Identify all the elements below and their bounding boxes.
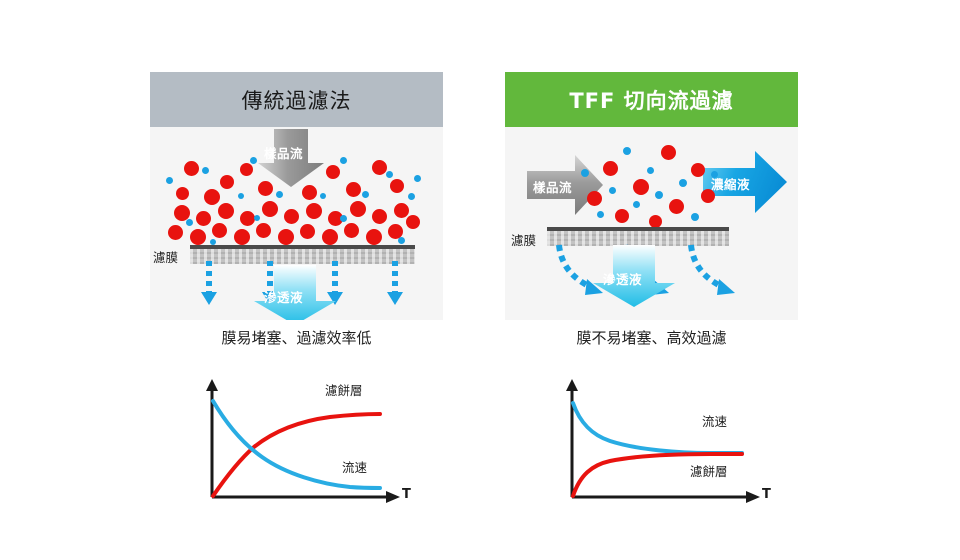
particle-red — [284, 209, 299, 224]
particle-red — [691, 163, 705, 177]
panel-tff: TFF 切向流過濾 樣品流 — [505, 72, 798, 320]
particle-blue — [202, 167, 209, 174]
membrane-label-conventional: 濾膜 — [153, 247, 178, 266]
particle-red — [633, 179, 649, 195]
particle-blue — [386, 171, 393, 178]
particle-red — [615, 209, 629, 223]
particle-red — [300, 224, 315, 239]
particle-red — [346, 182, 361, 197]
feed-arrow-label-conventional: 樣品流 — [264, 143, 303, 162]
feed-arrow-label-tff: 樣品流 — [533, 177, 572, 196]
particle-red — [344, 223, 359, 238]
particle-blue — [414, 175, 421, 182]
particle-blue — [276, 191, 283, 198]
particle-blue — [711, 171, 718, 178]
particle-red — [220, 175, 234, 189]
chart-legend-flux-conventional: 流速 — [342, 457, 367, 476]
x-axis-arrowhead — [386, 491, 400, 503]
particle-red — [701, 189, 715, 203]
particle-blue — [623, 147, 631, 155]
particle-red — [256, 223, 271, 238]
panel-tff-body: 樣品流 濃縮液 — [505, 127, 798, 320]
caption-conventional: 膜易堵塞、過濾效率低 — [150, 327, 443, 348]
caption-tff: 膜不易堵塞、高效過濾 — [505, 327, 798, 348]
permeate-arrow-label-tff: 滲透液 — [603, 269, 642, 288]
particle-blue — [655, 191, 663, 199]
particle-red — [326, 165, 340, 179]
particle-red — [168, 225, 183, 240]
particle-blue — [581, 169, 589, 177]
panel-conventional: 傳統過濾法 — [150, 72, 443, 320]
particle-blue — [691, 213, 699, 221]
particle-red — [176, 187, 189, 200]
particle-red — [406, 215, 420, 229]
chart-xlabel-conventional: T — [402, 487, 411, 502]
particle-blue — [320, 193, 326, 199]
particle-red — [240, 163, 253, 176]
particle-blue — [633, 201, 640, 208]
particle-blue — [679, 179, 687, 187]
particle-blue — [186, 219, 193, 226]
particle-red — [306, 203, 322, 219]
chart-conventional-plot — [190, 375, 420, 505]
chart-legend-flux-tff: 流速 — [702, 411, 727, 430]
panel-tff-title: TFF 切向流過濾 — [569, 85, 733, 115]
particle-blue — [398, 237, 405, 244]
particle-red — [669, 199, 684, 214]
particle-red — [372, 160, 387, 175]
panel-conventional-body: 樣品流 濾膜 — [150, 127, 443, 320]
particle-red — [190, 229, 206, 245]
particle-red — [212, 223, 227, 238]
y-axis-arrowhead — [566, 379, 578, 391]
particle-blue — [238, 193, 244, 199]
chart-xlabel-tff: T — [762, 487, 771, 502]
x-axis-arrowhead — [746, 491, 760, 503]
particle-red — [302, 185, 317, 200]
particle-blue — [166, 177, 173, 184]
particle-red — [372, 209, 387, 224]
particle-blue — [254, 215, 260, 221]
particle-blue — [340, 157, 347, 164]
chart-tff-plot — [550, 375, 780, 505]
particle-red — [278, 229, 294, 245]
figure-canvas: 傳統過濾法 — [0, 0, 960, 560]
chart-legend-cake-conventional: 濾餅層 — [325, 380, 363, 399]
chart-axes — [572, 389, 746, 497]
particle-red — [262, 201, 278, 217]
particle-blue — [340, 215, 347, 222]
chart-tff: 流速 濾餅層 T — [550, 375, 780, 505]
panel-tff-header: TFF 切向流過濾 — [505, 72, 798, 127]
chart-legend-cake-tff: 濾餅層 — [690, 461, 728, 480]
particle-red — [661, 145, 676, 160]
particle-red — [234, 229, 250, 245]
particle-red — [218, 203, 234, 219]
particle-red — [394, 203, 409, 218]
particle-red — [603, 161, 618, 176]
curve-cake-conventional — [213, 414, 380, 496]
particle-red — [240, 211, 255, 226]
particle-blue — [609, 187, 616, 194]
panel-conventional-header: 傳統過濾法 — [150, 72, 443, 127]
chart-conventional: 濾餅層 流速 T — [190, 375, 420, 505]
membrane-label-tff: 濾膜 — [511, 230, 536, 249]
particle-blue — [250, 157, 257, 164]
panel-conventional-title: 傳統過濾法 — [242, 85, 352, 115]
particle-red — [587, 191, 602, 206]
chart-axes — [212, 389, 386, 497]
particle-blue — [647, 167, 654, 174]
particle-red — [366, 229, 382, 245]
particle-blue — [408, 193, 415, 200]
y-axis-arrowhead — [206, 379, 218, 391]
particle-blue — [597, 211, 604, 218]
particle-blue — [362, 191, 369, 198]
particle-red — [322, 229, 338, 245]
particle-red — [184, 161, 199, 176]
permeate-arrow-label-conventional: 滲透液 — [264, 287, 303, 306]
particle-red — [204, 189, 220, 205]
particle-red — [196, 211, 211, 226]
particle-red — [350, 201, 366, 217]
particle-red — [390, 179, 404, 193]
